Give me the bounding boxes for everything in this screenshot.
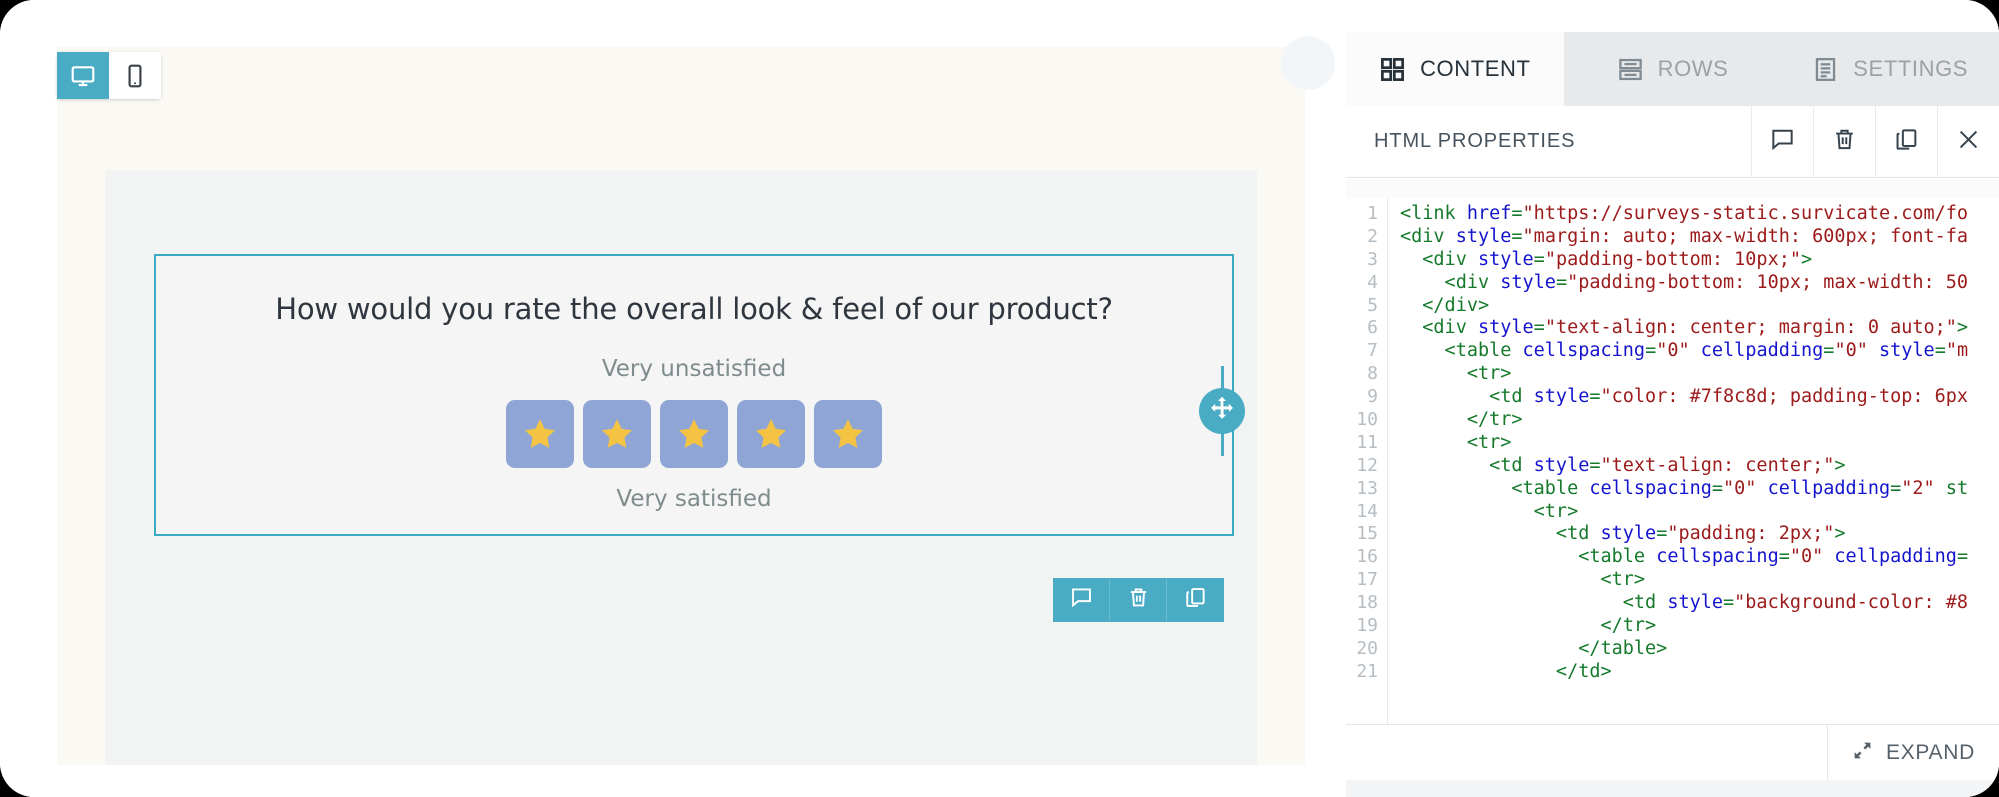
tab-rows[interactable]: ROWS [1564, 32, 1782, 106]
code-line[interactable]: </tr> [1400, 409, 1999, 432]
code-line-number: 14 [1346, 501, 1387, 524]
duplicate-icon [1184, 586, 1207, 614]
scale-low-label: Very unsatisfied [156, 356, 1232, 382]
code-line[interactable]: <div style="text-align: center; margin: … [1400, 317, 1999, 340]
code-line[interactable]: <table cellspacing="0" cellpadding="2" s… [1400, 478, 1999, 501]
code-line-number: 20 [1346, 638, 1387, 661]
code-line[interactable]: <td style="text-align: center;"> [1400, 455, 1999, 478]
selected-content-block[interactable]: How would you rate the overall look & fe… [154, 254, 1234, 536]
code-line-number: 7 [1346, 340, 1387, 363]
tab-content-label: CONTENT [1420, 56, 1531, 82]
trash-icon [1832, 127, 1857, 157]
code-top-padding [1346, 179, 1999, 198]
code-line-number: 13 [1346, 478, 1387, 501]
question-title: How would you rate the overall look & fe… [156, 292, 1232, 326]
comment-icon [1070, 586, 1093, 614]
device-view-toggle[interactable] [57, 52, 161, 99]
code-line[interactable]: </tr> [1400, 615, 1999, 638]
code-line[interactable]: <table cellspacing="0" cellpadding="0" s… [1400, 340, 1999, 363]
code-line-number: 1 [1346, 203, 1387, 226]
code-line[interactable]: <div style="padding-bottom: 10px;"> [1400, 249, 1999, 272]
panel-bottom-strip [1346, 780, 1999, 797]
block-toolbar[interactable] [1053, 578, 1224, 622]
code-line[interactable]: <div style="margin: auto; max-width: 600… [1400, 226, 1999, 249]
code-line-number: 6 [1346, 317, 1387, 340]
code-line[interactable]: </table> [1400, 638, 1999, 661]
code-line-number: 2 [1346, 226, 1387, 249]
star-button-2[interactable] [583, 400, 651, 468]
tab-settings-label: SETTINGS [1853, 56, 1968, 82]
desktop-icon [70, 63, 96, 89]
expand-label: EXPAND [1886, 741, 1975, 765]
trash-icon [1127, 586, 1150, 614]
tab-rows-label: ROWS [1658, 56, 1729, 82]
panel-close-button[interactable] [1937, 106, 1999, 178]
block-duplicate-button[interactable] [1167, 578, 1224, 622]
mobile-icon [122, 63, 148, 89]
block-drag-handle[interactable] [1199, 388, 1245, 434]
duplicate-icon [1894, 127, 1919, 157]
properties-side-panel: CONTENT ROWS [1305, 0, 1999, 797]
document-icon [1812, 56, 1839, 83]
star-button-1[interactable] [506, 400, 574, 468]
grid-icon [1379, 56, 1406, 83]
canvas-pane: How would you rate the overall look & fe… [0, 0, 1305, 797]
desktop-view-button[interactable] [57, 52, 109, 99]
code-line-number: 11 [1346, 432, 1387, 455]
move-icon [1208, 395, 1236, 428]
code-line[interactable]: <td style="color: #7f8c8d; padding-top: … [1400, 386, 1999, 409]
expand-arrows-icon [1852, 740, 1873, 767]
code-line[interactable]: <table cellspacing="0" cellpadding= [1400, 546, 1999, 569]
email-body: How would you rate the overall look & fe… [105, 170, 1257, 765]
code-line-number: 17 [1346, 569, 1387, 592]
code-line[interactable]: <link href="https://surveys-static.survi… [1400, 203, 1999, 226]
code-line-number: 10 [1346, 409, 1387, 432]
code-line-number: 18 [1346, 592, 1387, 615]
code-line-number: 15 [1346, 523, 1387, 546]
close-icon [1956, 127, 1981, 157]
code-editor-footer: EXPAND [1346, 724, 1999, 780]
code-line[interactable]: <td style="padding: 2px;"> [1400, 523, 1999, 546]
rows-icon [1617, 56, 1644, 83]
panel-delete-button[interactable] [1813, 106, 1875, 178]
code-content[interactable]: <link href="https://surveys-static.survi… [1388, 198, 1999, 724]
html-code-editor[interactable]: 123456789101112131415161718192021 <link … [1346, 179, 1999, 724]
code-line[interactable]: <tr> [1400, 501, 1999, 524]
code-line-number: 8 [1346, 363, 1387, 386]
star-icon [752, 415, 790, 453]
star-button-5[interactable] [814, 400, 882, 468]
star-icon [598, 415, 636, 453]
code-line[interactable]: <tr> [1400, 432, 1999, 455]
tab-content[interactable]: CONTENT [1346, 32, 1564, 106]
code-line-number: 12 [1346, 455, 1387, 478]
code-line[interactable]: <div style="padding-bottom: 10px; max-wi… [1400, 272, 1999, 295]
comment-icon [1770, 127, 1795, 157]
code-line[interactable]: <tr> [1400, 363, 1999, 386]
scale-high-label: Very satisfied [156, 486, 1232, 512]
code-line-number: 3 [1346, 249, 1387, 272]
star-rating-row[interactable] [156, 400, 1232, 468]
code-line-number: 19 [1346, 615, 1387, 638]
code-line-number: 21 [1346, 661, 1387, 684]
block-comment-button[interactable] [1053, 578, 1110, 622]
block-delete-button[interactable] [1110, 578, 1167, 622]
code-line-number: 5 [1346, 295, 1387, 318]
star-button-4[interactable] [737, 400, 805, 468]
panel-tabs[interactable]: CONTENT ROWS [1346, 32, 1999, 106]
properties-header: HTML PROPERTIES [1346, 106, 1999, 178]
panel-duplicate-button[interactable] [1875, 106, 1937, 178]
code-line-numbers: 123456789101112131415161718192021 [1346, 198, 1388, 724]
panel-decoration-circle [1281, 36, 1335, 90]
star-button-3[interactable] [660, 400, 728, 468]
mobile-view-button[interactable] [109, 52, 161, 99]
code-line-number: 16 [1346, 546, 1387, 569]
properties-title: HTML PROPERTIES [1374, 130, 1751, 153]
star-icon [521, 415, 559, 453]
code-line-number: 9 [1346, 386, 1387, 409]
code-line-number: 4 [1346, 272, 1387, 295]
expand-button[interactable]: EXPAND [1827, 725, 1999, 781]
tab-settings[interactable]: SETTINGS [1781, 32, 1999, 106]
star-icon [829, 415, 867, 453]
code-line[interactable]: <tr> [1400, 569, 1999, 592]
code-line[interactable]: </td> [1400, 661, 1999, 684]
panel-comment-button[interactable] [1751, 106, 1813, 178]
email-editor-window: How would you rate the overall look & fe… [0, 0, 1999, 797]
code-line[interactable]: <td style="background-color: #8 [1400, 592, 1999, 615]
star-icon [675, 415, 713, 453]
canvas-scroll-area[interactable]: How would you rate the overall look & fe… [57, 47, 1305, 765]
panel-inner: CONTENT ROWS [1346, 32, 1999, 765]
code-body[interactable]: 123456789101112131415161718192021 <link … [1346, 198, 1999, 724]
code-line[interactable]: </div> [1400, 295, 1999, 318]
